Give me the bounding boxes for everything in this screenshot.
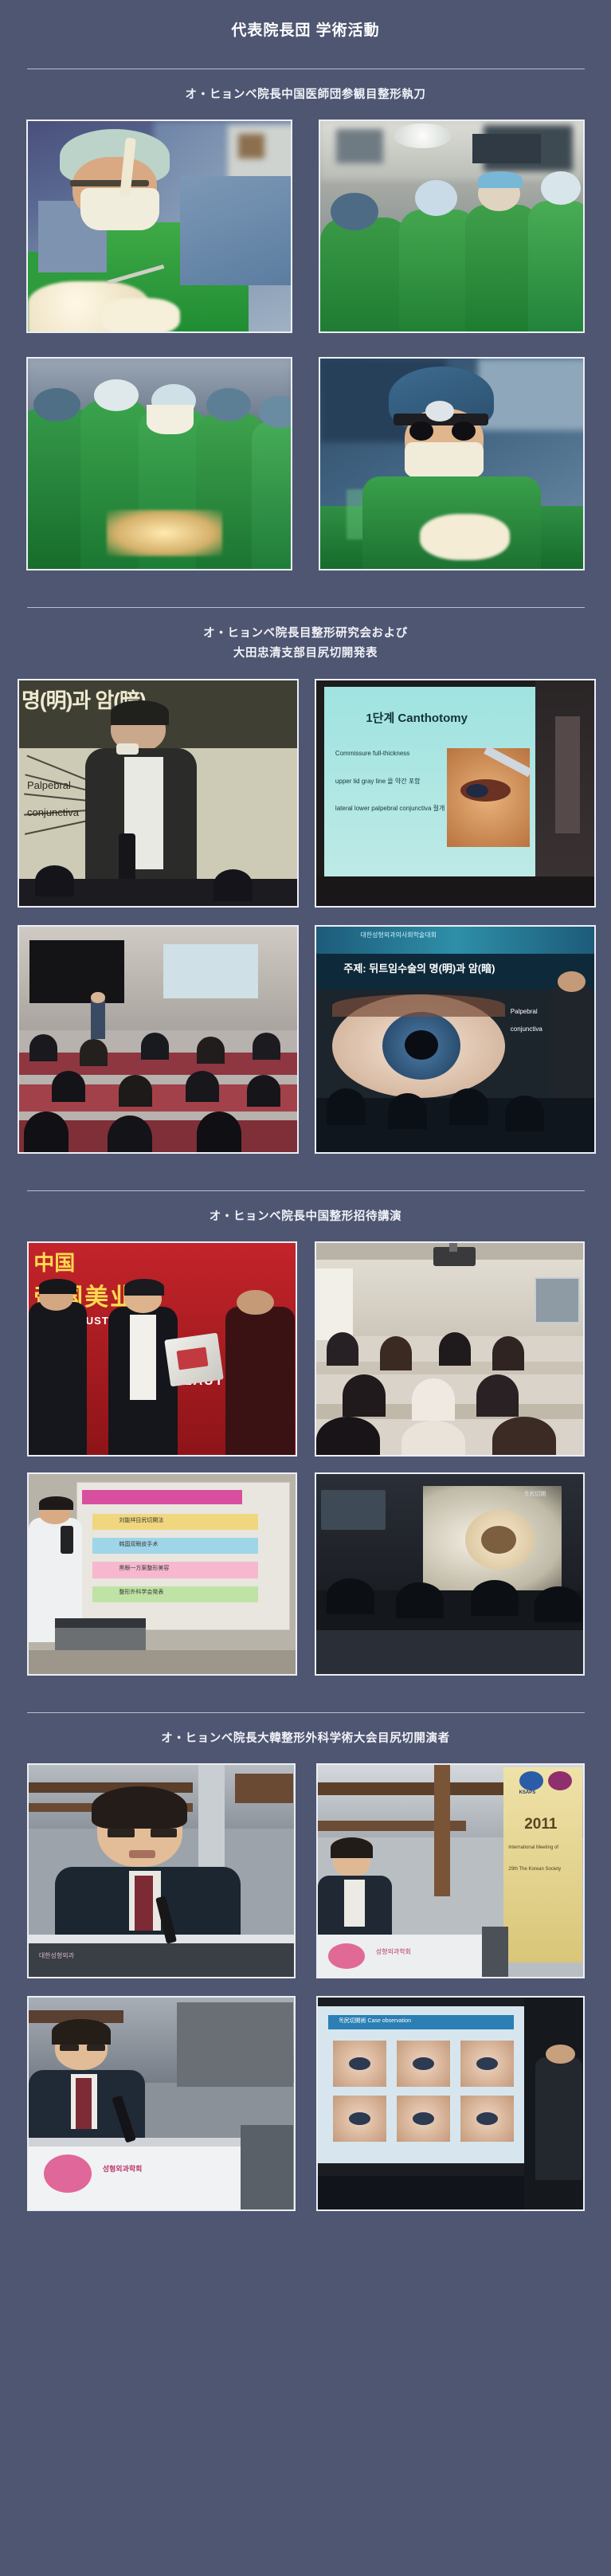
page-root: 代表院長団 学術活動 オ・ヒョンベ院長中国医師団参観目整形執刀 (0, 0, 611, 2262)
slide-text-palpebral: Palpebral (27, 779, 71, 791)
photo-eye-case-slide-presentation[interactable]: 목尻切開術 Case observation (316, 1996, 585, 2211)
section-title-line: オ・ヒョンベ院長中国整形招待講演 (0, 1207, 611, 1227)
photo-china-summit-stage[interactable]: 中国 帝国美业 INDUSTRY SUMMIT BEAUT (27, 1241, 297, 1457)
photo-slide-canthotomy[interactable]: 1단계 Canthotomy Commissure full-thickness… (315, 679, 596, 908)
photo-grid: 대한성형외과 KSAPS 2011 (27, 1763, 585, 2211)
banner-year: 2011 (524, 1816, 557, 1833)
slide-header-korean: 대한성형외과의사회학술대회 (360, 931, 437, 939)
banner-society: 29th The Korean Society (508, 1867, 561, 1872)
slide-text-conjunctiva: conjunctiva (27, 806, 79, 818)
section-title-line-1: オ・ヒョンベ院長目整形研究会および (0, 624, 611, 644)
slide-line-commissure: Commissure full-thickness (335, 750, 409, 757)
photo-congress-banner-2011[interactable]: KSAPS 2011 International Meeting of 29th… (316, 1763, 585, 1978)
page-bottom-spacer (0, 2230, 611, 2262)
slide-line-conjunctiva: lateral lower palpebral conjunctiva 절개 (335, 804, 445, 813)
photo-surgeon-operating-closeup[interactable] (26, 120, 292, 333)
section-title-line-2: 大田忠清支部目尻切開発表 (0, 644, 611, 664)
photo-surgeon-with-loupes[interactable] (319, 357, 585, 570)
section-title: オ・ヒョンベ院長中国医師団参観目整形執刀 (0, 69, 611, 120)
photo-speaker-podium-pink-logo[interactable]: 성형외과학회 (27, 1996, 296, 2211)
section-surgery-china-doctors: オ・ヒョンベ院長中国医師団参観目整形執刀 (0, 69, 611, 590)
banner-ksaps: KSAPS (519, 1790, 536, 1795)
photo-projection-eye-diagram[interactable]: 목尻切開 (315, 1472, 585, 1676)
section-title: オ・ヒョンベ院長目整形研究会および 大田忠清支部目尻切開発表 (0, 608, 611, 679)
photo-eye-closeup-slide-audience[interactable]: 대한성형외과의사회학술대회 주제: 뒤트임수술의 명(明)과 암(暗) Palp… (315, 925, 596, 1154)
section-title: オ・ヒョンベ院長中国整形招待講演 (0, 1191, 611, 1241)
photo-doctors-around-table[interactable] (26, 357, 292, 570)
section-title-line: オ・ヒョンベ院長中国医師団参観目整形執刀 (0, 85, 611, 105)
banner-meeting: International Meeting of (508, 1845, 558, 1850)
photo-grid: 中国 帝国美业 INDUSTRY SUMMIT BEAUT (27, 1241, 585, 1676)
section-korean-plastic-surgery-congress: オ・ヒョンベ院長大韓整形外科学術大会目尻切開演者 (0, 1712, 611, 2230)
slide-label-palpebral: Palpebral (511, 1008, 538, 1015)
slide-label-conjunctiva: conjunctiva (511, 1025, 542, 1033)
photo-lecture-palpebral-slide[interactable]: 명(明)과 암(暗) Palpebral conjunctiva Lateral (18, 679, 299, 908)
photo-audience-seated-lecture[interactable] (18, 925, 299, 1154)
slide-title-canthotomy: 1단계 Canthotomy (366, 709, 468, 726)
section-title-line: オ・ヒョンベ院長大韓整形外科学術大会目尻切開演者 (0, 1729, 611, 1749)
slide-topic-title: 주제: 뒤트임수술의 명(明)과 암(暗) (343, 960, 495, 975)
photo-grid: 명(明)과 암(暗) Palpebral conjunctiva Lateral (14, 679, 598, 1154)
section-china-invited-lecture: オ・ヒョンベ院長中国整形招待講演 中国 帝国美业 INDUSTRY SUMMIT… (0, 1190, 611, 1695)
section-eye-surgery-study-group: オ・ヒョンベ院長目整形研究会および 大田忠清支部目尻切開発表 명(明)과 암(暗… (0, 607, 611, 1173)
banner-text-china: 中国 (33, 1247, 75, 1276)
slide-line-graylin: upper lid gray line 을 약간 포함 (335, 777, 421, 786)
photo-seminar-room-audience[interactable] (315, 1241, 585, 1457)
photo-surgical-team-observers[interactable] (319, 120, 585, 333)
photo-lecturer-chinese-slide[interactable]: 刘能祥目尻切開法 韩国双眼皮手术 黑眼一方案整形美容 整形外科学会発表 (27, 1472, 297, 1676)
page-title: 代表院長団 学術活動 (0, 0, 611, 51)
photo-speaker-at-podium[interactable]: 대한성형외과 (27, 1763, 296, 1978)
photo-grid (27, 120, 585, 570)
section-title: オ・ヒョンベ院長大韓整形外科学術大会目尻切開演者 (0, 1713, 611, 1763)
